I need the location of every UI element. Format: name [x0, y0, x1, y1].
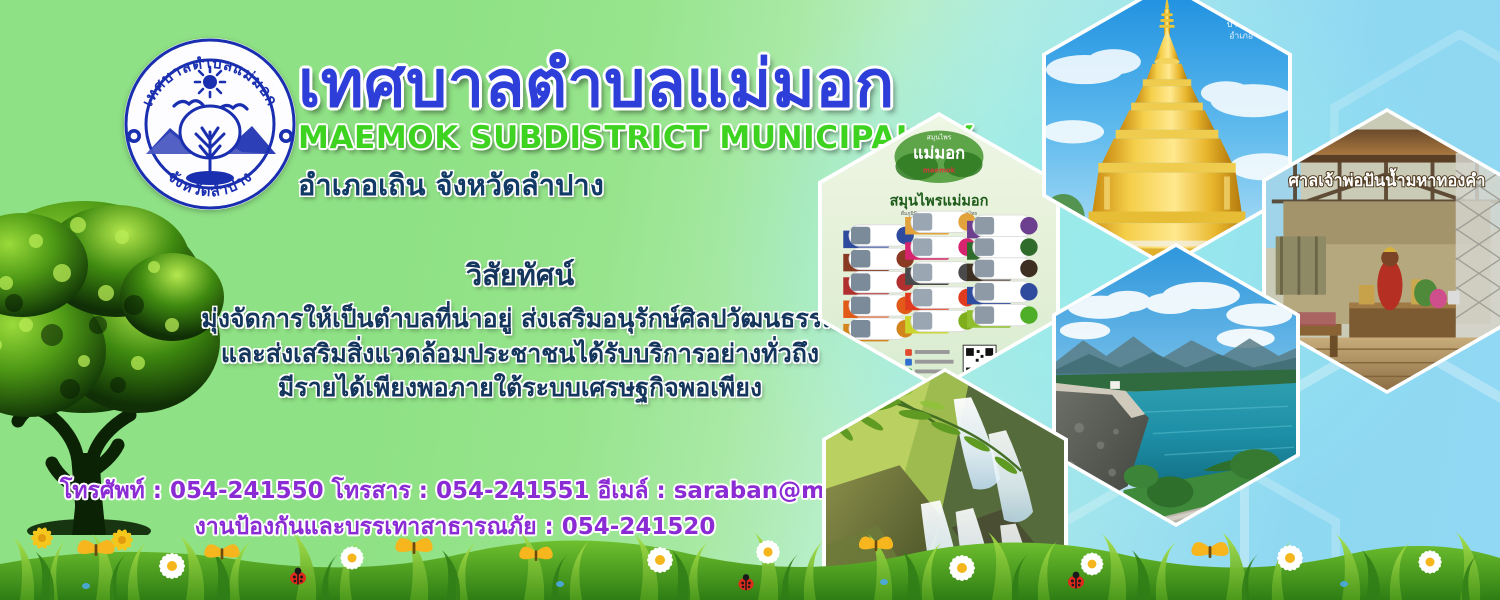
hex-photo-herbal-poster[interactable]: แม่มอก maemok สมุนไพร สมุนไพรแม่มอก ดื่ม… — [818, 112, 1060, 390]
vision-block: วิสัยทัศน์ มุ่งจัดการให้เป็นตำบลที่น่าอย… — [190, 252, 850, 406]
dew-drop — [82, 579, 1348, 589]
daisy-flower — [158, 539, 1442, 582]
municipality-banner: เทศบาลตำบลแม่มอก จังหวัดลำปาง เทศบาลตำบล… — [0, 0, 1500, 600]
hex-photo-waterfall[interactable] — [822, 368, 1068, 600]
shrine-caption: ศาลเจ้าพ่อปันน้ำมหาทองคำ — [1288, 168, 1485, 190]
pagoda-caption-1: วัดพ — [1228, 0, 1252, 10]
herb-poster-caption: สมุนไพรแม่มอก — [890, 191, 989, 209]
contact-block: โทรศัพท์ : 054-241550 โทรสาร : 054-24155… — [60, 474, 850, 545]
vision-line-2: และส่งเสริมสิ่งแวดล้อมประชาชนได้รับบริกา… — [190, 337, 850, 372]
hex-photo-golden-pagoda[interactable]: วัดพ บ้านทุ่ง อำเภอ — [1042, 0, 1292, 268]
vision-line-3: มีรายได้เพียงพอภายใต้ระบบเศรษฐกิจพอเพียง — [190, 371, 850, 406]
municipality-seal-logo: เทศบาลตำบลแม่มอก จังหวัดลำปาง — [122, 36, 298, 212]
vision-line-1: มุ่งจัดการให้เป็นตำบลที่น่าอยู่ ส่งเสริม… — [190, 302, 850, 337]
svg-text:maemok: maemok — [923, 166, 956, 174]
herb-logo-text: แม่มอก — [913, 144, 965, 163]
contact-emergency[interactable]: งานป้องกันและบรรเทาสาธารณภัย : 054-24152… — [60, 510, 850, 546]
hex-photo-reservoir-dam[interactable] — [1052, 243, 1300, 527]
page-title-thai: เทศบาลตำบลแม่มอก — [298, 52, 958, 117]
vision-heading: วิสัยทัศน์ — [190, 252, 850, 298]
contact-phone-fax-email[interactable]: โทรศัพท์ : 054-241550 โทรสาร : 054-24155… — [60, 474, 850, 510]
svg-text:สมุนไพร: สมุนไพร — [927, 133, 952, 141]
